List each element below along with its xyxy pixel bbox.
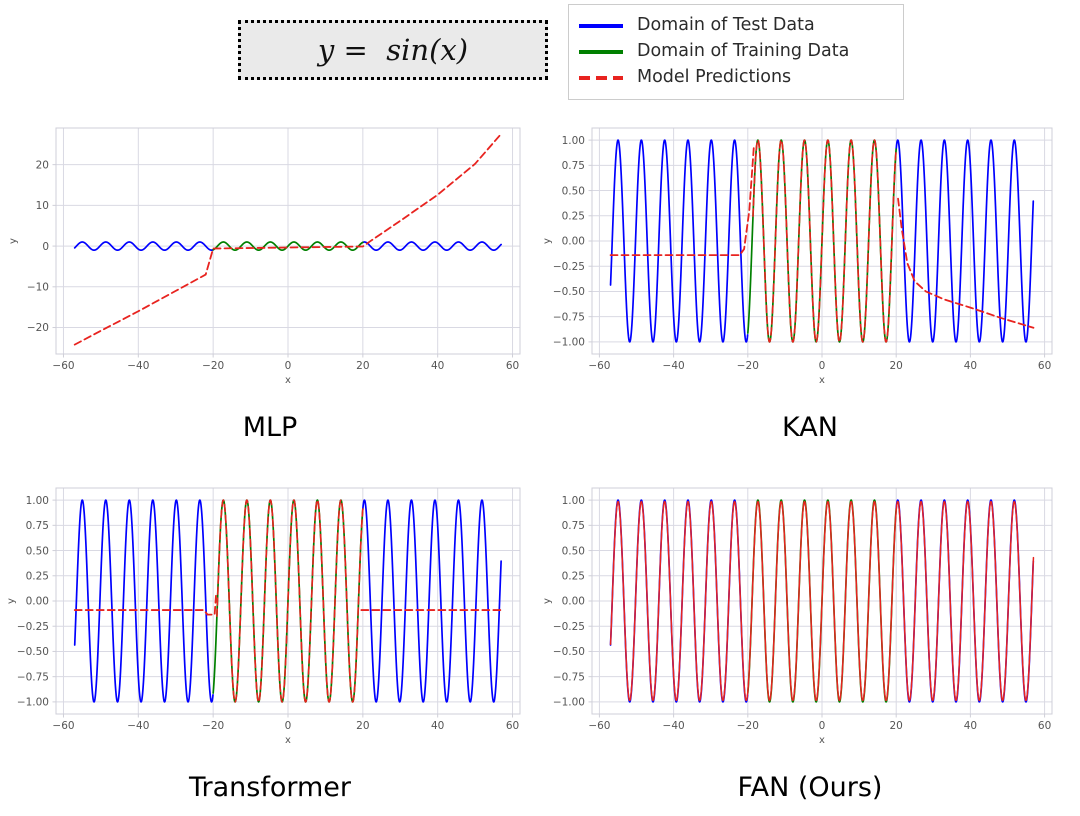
y-tick-label: −1.00	[553, 337, 585, 349]
x-tick-label: −60	[588, 360, 610, 372]
x-tick-label: 40	[431, 720, 444, 732]
y-tick-label: −0.75	[553, 311, 585, 323]
x-axis-label: x	[819, 735, 825, 746]
x-tick-label: −40	[663, 360, 685, 372]
y-tick-label: −0.25	[553, 261, 585, 273]
y-tick-label: −0.25	[17, 621, 49, 633]
chart-mlp: −60−40−200204060−20−1001020xy	[0, 110, 540, 400]
x-tick-label: 0	[285, 360, 292, 372]
legend-label-test: Domain of Test Data	[637, 17, 815, 35]
y-tick-label: 0.75	[26, 520, 49, 532]
x-tick-label: −40	[127, 720, 149, 732]
y-tick-label: 20	[36, 159, 49, 171]
legend-item-prediction: Model Predictions	[579, 65, 891, 91]
chart-fan: −60−40−200204060−1.00−0.75−0.50−0.250.00…	[540, 470, 1080, 760]
figure-root: y = sin(x) Domain of Test Data Domain of…	[0, 0, 1080, 816]
x-tick-label: −60	[588, 720, 610, 732]
y-tick-label: −0.50	[17, 646, 49, 658]
y-tick-label: −0.25	[553, 621, 585, 633]
x-axis-label: x	[285, 375, 291, 386]
caption-transformer: Transformer	[0, 772, 540, 803]
x-tick-label: −40	[127, 360, 149, 372]
plot-panel-mlp: −60−40−200204060−20−1001020xy	[0, 110, 540, 400]
caption-mlp: MLP	[0, 412, 540, 443]
x-tick-label: 0	[819, 360, 826, 372]
x-tick-label: 20	[890, 360, 903, 372]
x-tick-label: 20	[890, 720, 903, 732]
y-axis-label: y	[6, 598, 17, 604]
x-tick-label: 60	[506, 360, 519, 372]
plot-panel-kan: −60−40−200204060−1.00−0.75−0.50−0.250.00…	[540, 110, 1080, 400]
y-tick-label: 0.50	[562, 185, 585, 197]
y-tick-label: 1.00	[562, 495, 585, 507]
plot-panel-fan: −60−40−200204060−1.00−0.75−0.50−0.250.00…	[540, 470, 1080, 760]
y-tick-label: 0.25	[562, 210, 585, 222]
y-axis-label: y	[542, 238, 553, 244]
chart-kan: −60−40−200204060−1.00−0.75−0.50−0.250.00…	[540, 110, 1080, 400]
y-tick-label: 1.00	[26, 495, 49, 507]
x-tick-label: 20	[356, 360, 369, 372]
chart-transformer: −60−40−200204060−1.00−0.75−0.50−0.250.00…	[0, 470, 540, 760]
y-tick-label: 0.00	[26, 596, 49, 608]
y-tick-label: −1.00	[17, 697, 49, 709]
legend-item-train: Domain of Training Data	[579, 39, 891, 65]
x-tick-label: 0	[819, 720, 826, 732]
y-tick-label: −0.75	[17, 671, 49, 683]
x-tick-label: 60	[506, 720, 519, 732]
equation-title-box: y = sin(x)	[238, 20, 548, 80]
y-tick-label: 0.00	[562, 236, 585, 248]
x-tick-label: −40	[663, 720, 685, 732]
x-tick-label: 60	[1038, 720, 1051, 732]
x-tick-label: −20	[737, 360, 759, 372]
x-axis-label: x	[819, 375, 825, 386]
y-tick-label: −20	[27, 322, 49, 334]
x-axis-label: x	[285, 735, 291, 746]
x-tick-label: 60	[1038, 360, 1051, 372]
caption-kan: KAN	[540, 412, 1080, 443]
y-tick-label: 0.25	[26, 570, 49, 582]
x-tick-label: 0	[285, 720, 292, 732]
y-tick-label: −0.50	[553, 286, 585, 298]
y-tick-label: 0.25	[562, 570, 585, 582]
x-tick-label: −20	[202, 720, 224, 732]
y-tick-label: 0.75	[562, 160, 585, 172]
x-tick-label: 40	[431, 360, 444, 372]
y-tick-label: 10	[36, 200, 49, 212]
y-axis-label: y	[542, 598, 553, 604]
y-tick-label: 0.50	[562, 545, 585, 557]
y-tick-label: 0.50	[26, 545, 49, 557]
y-axis-label: y	[8, 238, 19, 244]
legend-item-test: Domain of Test Data	[579, 13, 891, 39]
y-tick-label: 0.00	[562, 596, 585, 608]
y-tick-label: 1.00	[562, 135, 585, 147]
x-tick-label: −60	[52, 720, 74, 732]
y-tick-label: −0.50	[553, 646, 585, 658]
equation-text: y = sin(x)	[318, 33, 468, 67]
legend: Domain of Test Data Domain of Training D…	[568, 4, 904, 100]
x-tick-label: 20	[356, 720, 369, 732]
x-tick-label: −60	[52, 360, 74, 372]
y-tick-label: −1.00	[553, 697, 585, 709]
y-tick-label: −0.75	[553, 671, 585, 683]
plot-panel-transformer: −60−40−200204060−1.00−0.75−0.50−0.250.00…	[0, 470, 540, 760]
y-tick-label: −10	[27, 282, 49, 294]
x-tick-label: −20	[202, 360, 224, 372]
x-tick-label: 40	[964, 720, 977, 732]
legend-label-prediction: Model Predictions	[637, 69, 791, 87]
y-tick-label: 0	[42, 241, 49, 253]
x-tick-label: 40	[964, 360, 977, 372]
x-tick-label: −20	[737, 720, 759, 732]
caption-fan: FAN (Ours)	[540, 772, 1080, 803]
y-tick-label: 0.75	[562, 520, 585, 532]
legend-label-train: Domain of Training Data	[637, 43, 849, 61]
